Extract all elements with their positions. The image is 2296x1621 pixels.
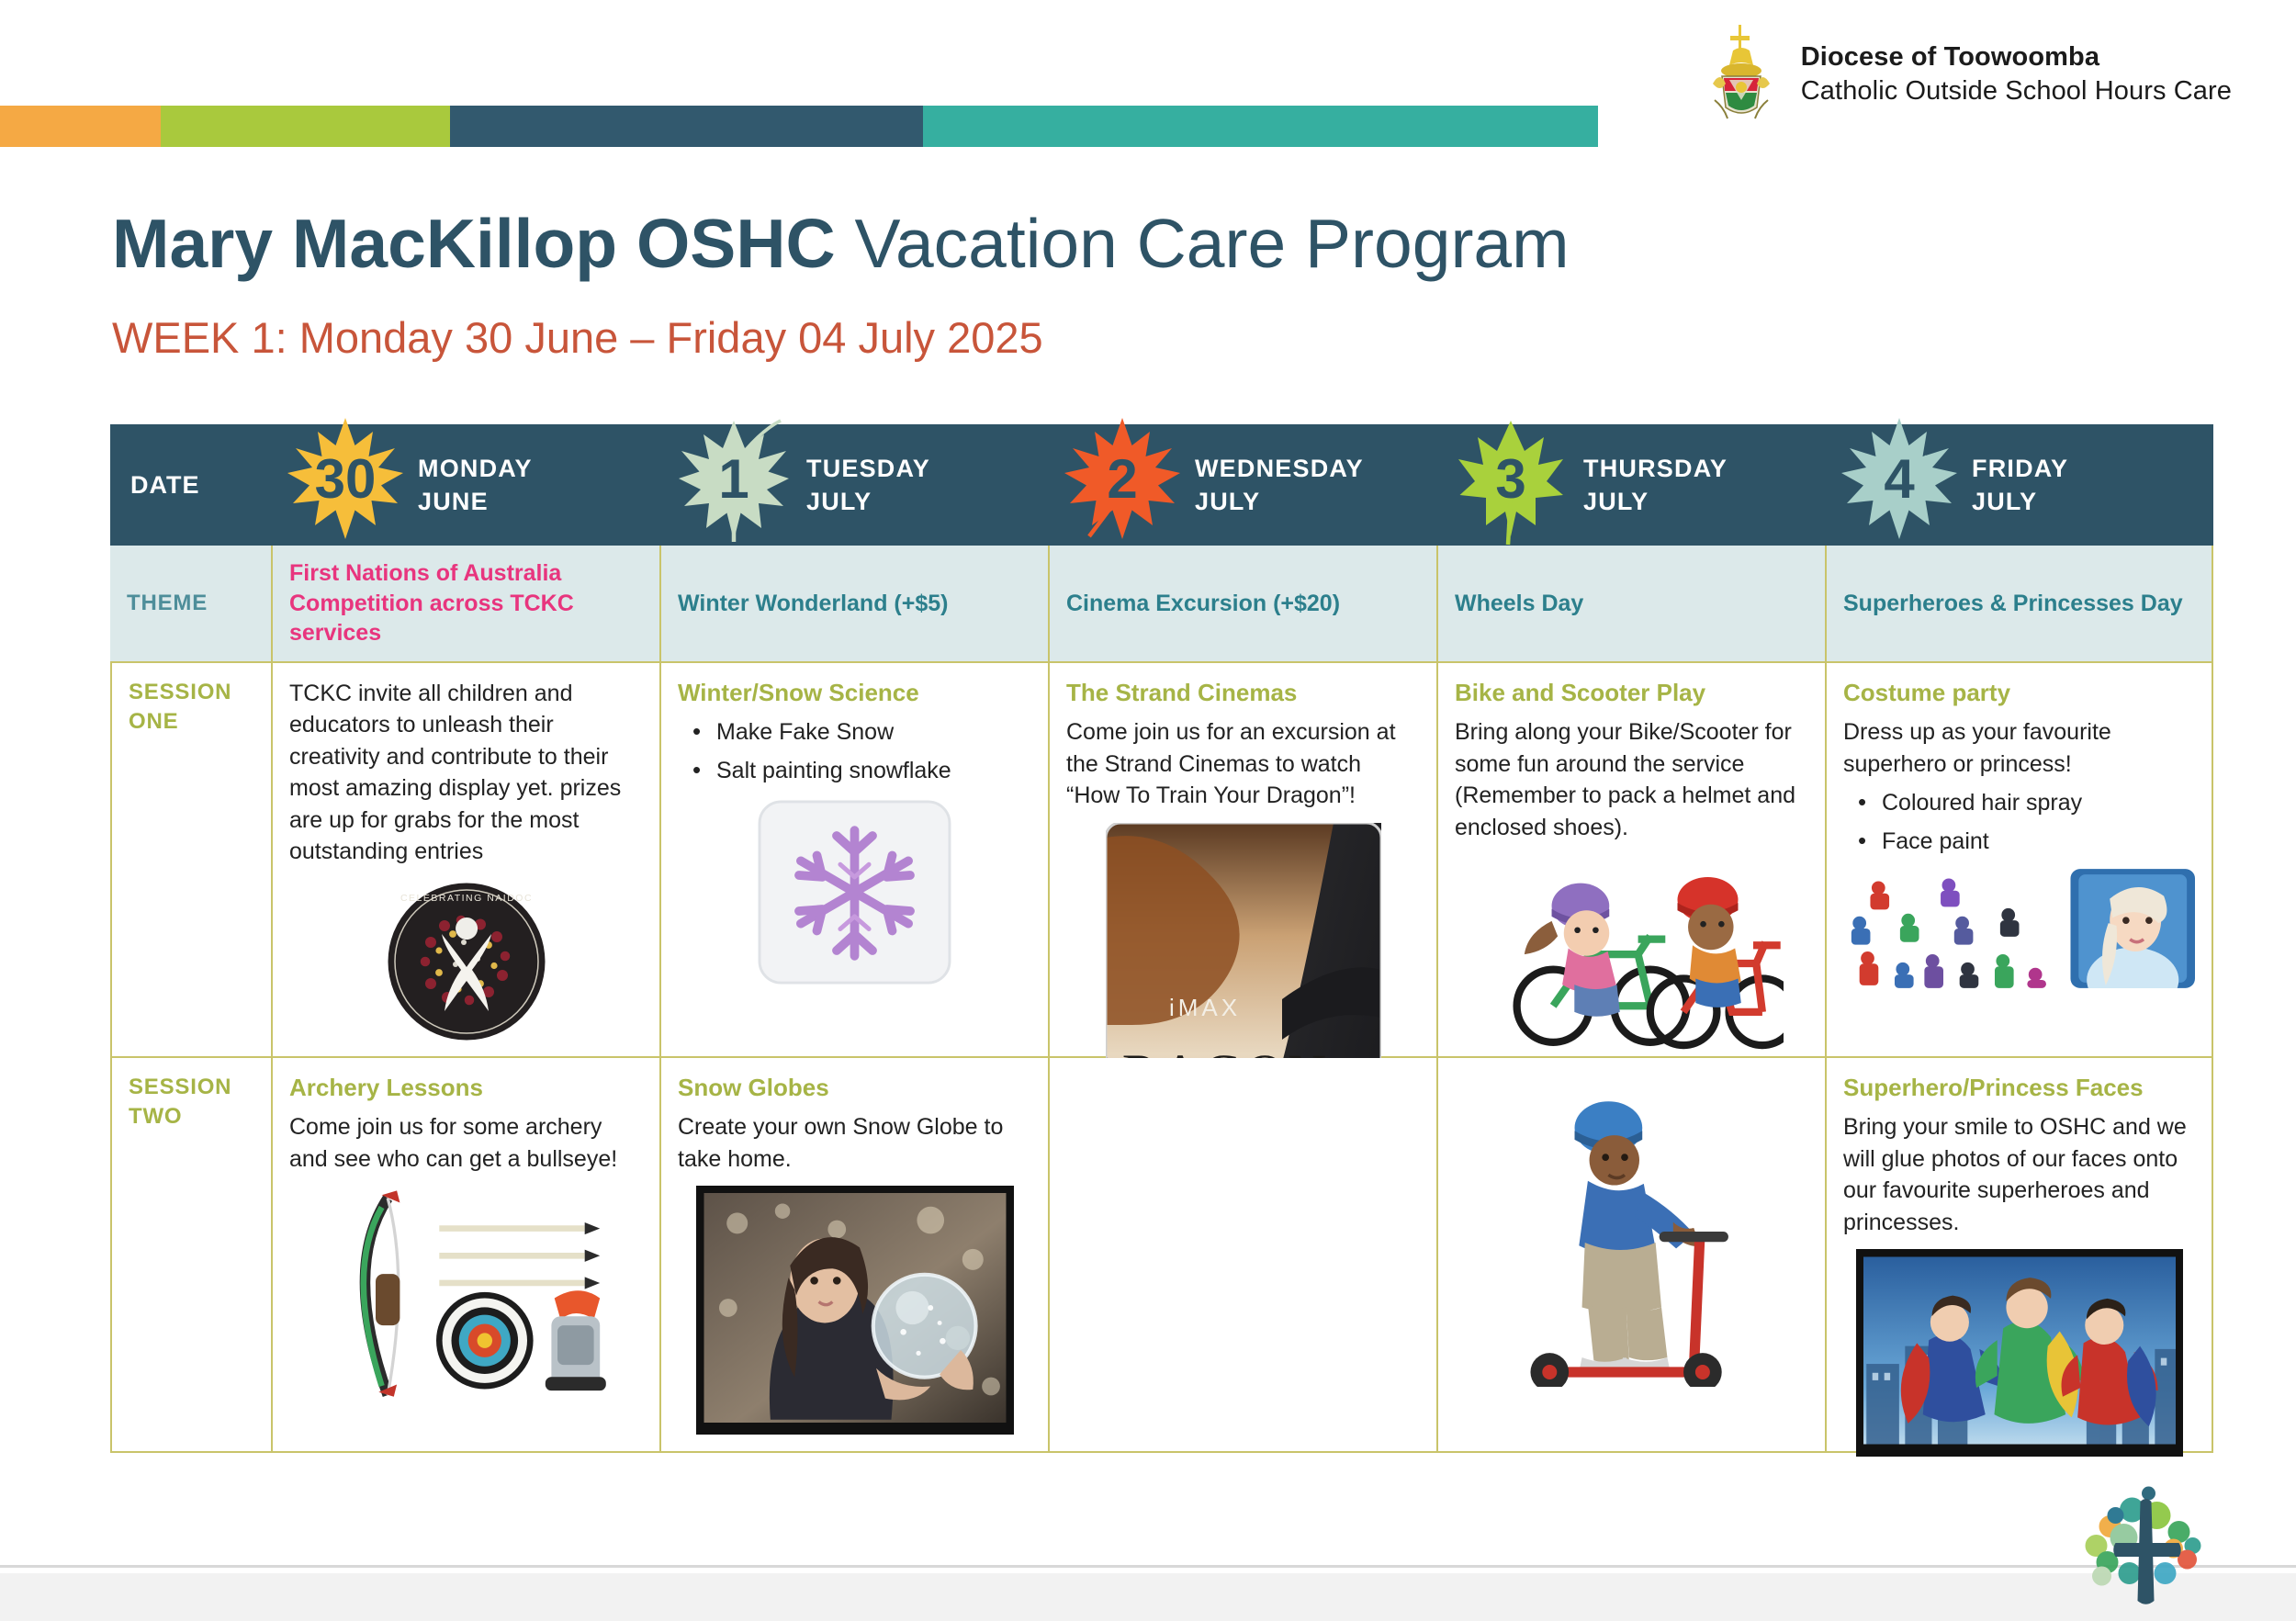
- session-one-cell-wednesday: The Strand Cinemas Come join us for an e…: [1048, 663, 1436, 1058]
- day-number-friday: 4: [1830, 410, 1968, 547]
- footer-divider: [0, 1565, 2296, 1568]
- page-title-regular: Vacation Care Program: [836, 205, 1570, 282]
- activity-bullets-friday-s1: Coloured hair spray Face paint: [1852, 787, 2195, 858]
- day-header-friday: 4 FRIDAY JULY: [1825, 424, 2213, 546]
- naidoc-week-logo: CELEBRATING NAIDOC: [289, 879, 643, 1044]
- theme-cell-wednesday: Cinema Excursion (+$20): [1048, 546, 1436, 663]
- boy-on-scooter-photo: [1455, 1084, 1808, 1387]
- activity-body-friday-s1: Dress up as your favourite superhero or …: [1843, 716, 2195, 780]
- month-thursday: JULY: [1583, 485, 1728, 518]
- day-number-thursday: 3: [1442, 410, 1580, 547]
- day-number-wednesday: 2: [1053, 410, 1191, 547]
- logo-line-service: Catholic Outside School Hours Care: [1801, 74, 2232, 108]
- page-title-bold: Mary MacKillop OSHC: [112, 205, 836, 282]
- maple-leaf-icon: 2: [1053, 410, 1191, 547]
- page-subtitle: WEEK 1: Monday 30 June – Friday 04 July …: [112, 312, 1043, 363]
- kids-on-bikes-illustration: [1455, 854, 1808, 1052]
- girl-holding-snow-globe-photo: [678, 1186, 1031, 1435]
- activity-title-wednesday-s1: The Strand Cinemas: [1066, 678, 1420, 708]
- month-monday: JUNE: [418, 485, 533, 518]
- page-title: Mary MacKillop OSHC Vacation Care Progra…: [112, 204, 1570, 283]
- maple-leaf-icon: 4: [1830, 410, 1968, 547]
- program-table: DATE 30 MONDAY JUNE: [110, 424, 2213, 1453]
- theme-cell-friday: Superheroes & Princesses Day: [1825, 546, 2213, 663]
- day-header-wednesday: 2 WEDNESDAY JULY: [1048, 424, 1436, 546]
- list-item: Make Fake Snow: [687, 716, 1031, 749]
- maple-leaf-icon: 30: [276, 410, 414, 547]
- session-two-cell-monday: Archery Lessons Come join us for some ar…: [271, 1058, 659, 1453]
- svg-text:CELEBRATING NAIDOC: CELEBRATING NAIDOC: [400, 893, 532, 904]
- theme-cell-tuesday: Winter Wonderland (+$5): [659, 546, 1048, 663]
- activity-title-friday-s2: Superhero/Princess Faces: [1843, 1073, 2195, 1103]
- activity-body-monday-s1: TCKC invite all children and educators t…: [289, 678, 643, 868]
- footer-strip: [0, 1573, 2296, 1621]
- weekday-monday: MONDAY: [418, 452, 533, 485]
- theme-text-friday: Superheroes & Princesses Day: [1843, 589, 2183, 619]
- activity-bullets-tuesday-s1: Make Fake Snow Salt painting snowflake: [687, 716, 1031, 787]
- session-one-cell-monday: TCKC invite all children and educators t…: [271, 663, 659, 1058]
- theme-row: THEME First Nations of Australia Competi…: [110, 546, 2213, 663]
- theme-text-thursday: Wheels Day: [1455, 589, 1583, 619]
- activity-body-wednesday-s1: Come join us for an excursion at the Str…: [1066, 716, 1420, 812]
- activity-title-tuesday-s2: Snow Globes: [678, 1073, 1031, 1103]
- month-wednesday: JULY: [1195, 485, 1364, 518]
- vacation-care-program-page: Diocese of Toowoomba Catholic Outside Sc…: [0, 0, 2296, 1621]
- day-number-tuesday: 1: [665, 410, 803, 547]
- session-two-cell-tuesday: Snow Globes Create your own Snow Globe t…: [659, 1058, 1048, 1453]
- theme-text-monday: First Nations of Australia Competition a…: [289, 558, 643, 648]
- weekday-friday: FRIDAY: [1972, 452, 2068, 485]
- maple-leaf-icon: 1: [665, 410, 803, 547]
- list-item: Salt painting snowflake: [687, 755, 1031, 788]
- activity-title-friday-s1: Costume party: [1843, 678, 2195, 708]
- day-number-monday: 30: [276, 410, 414, 547]
- weekday-thursday: THURSDAY: [1583, 452, 1728, 485]
- activity-title-tuesday-s1: Winter/Snow Science: [678, 678, 1031, 708]
- activity-body-tuesday-s2: Create your own Snow Globe to take home.: [678, 1111, 1031, 1175]
- logo-line-diocese: Diocese of Toowoomba: [1801, 40, 2232, 74]
- theme-cell-monday: First Nations of Australia Competition a…: [271, 546, 659, 663]
- svg-text:iMAX: iMAX: [1168, 994, 1240, 1021]
- session-two-cell-friday: Superhero/Princess Faces Bring your smil…: [1825, 1058, 2213, 1453]
- activity-body-thursday-s1: Bring along your Bike/Scooter for some f…: [1455, 716, 1808, 843]
- brand-colour-bar: [0, 106, 1598, 147]
- salt-painted-snowflake-image: [678, 798, 1031, 986]
- session-two-label-cell: SESSION TWO: [110, 1058, 271, 1453]
- activity-title-thursday-s1: Bike and Scooter Play: [1455, 678, 1808, 708]
- theme-cell-thursday: Wheels Day: [1436, 546, 1825, 663]
- superhero-figures-and-elsa-image: [1843, 869, 2195, 988]
- theme-row-label-cell: THEME: [110, 546, 271, 663]
- diocese-logo: Diocese of Toowoomba Catholic Outside Sc…: [1702, 23, 2232, 126]
- theme-row-label: THEME: [127, 591, 208, 616]
- colour-bar-segment-navy: [450, 106, 923, 147]
- session-two-row: SESSION TWO Archery Lessons Come join us…: [110, 1058, 2213, 1453]
- month-friday: JULY: [1972, 485, 2068, 518]
- day-header-thursday: 3 THURSDAY JULY: [1436, 424, 1825, 546]
- activity-body-friday-s2: Bring your smile to OSHC and we will glu…: [1843, 1111, 2195, 1238]
- diocese-crest-icon: [1702, 23, 1781, 126]
- session-two-label: SESSION TWO: [129, 1073, 254, 1132]
- session-one-row: SESSION ONE TCKC invite all children and…: [110, 663, 2213, 1058]
- list-item: Face paint: [1852, 826, 2195, 859]
- month-tuesday: JULY: [806, 485, 930, 518]
- session-one-cell-tuesday: Winter/Snow Science Make Fake Snow Salt …: [659, 663, 1048, 1058]
- catholic-education-cross-logo: [2066, 1474, 2223, 1612]
- activity-body-monday-s2: Come join us for some archery and see wh…: [289, 1111, 643, 1175]
- date-row-label-cell: DATE: [110, 424, 271, 546]
- session-one-cell-thursday: Bike and Scooter Play Bring along your B…: [1436, 663, 1825, 1058]
- weekday-tuesday: TUESDAY: [806, 452, 930, 485]
- activity-title-monday-s2: Archery Lessons: [289, 1073, 643, 1103]
- session-two-cell-thursday: [1436, 1058, 1825, 1453]
- colour-bar-segment-green: [161, 106, 450, 147]
- date-header-row: DATE 30 MONDAY JUNE: [110, 424, 2213, 546]
- colour-bar-segment-orange: [0, 106, 161, 147]
- day-header-monday: 30 MONDAY JUNE: [271, 424, 659, 546]
- maple-leaf-icon: 3: [1442, 410, 1580, 547]
- theme-text-tuesday: Winter Wonderland (+$5): [678, 589, 948, 619]
- list-item: Coloured hair spray: [1852, 787, 2195, 820]
- kids-as-superheroes-photo: [1843, 1249, 2195, 1457]
- theme-text-wednesday: Cinema Excursion (+$20): [1066, 589, 1340, 619]
- session-one-label-cell: SESSION ONE: [110, 663, 271, 1058]
- day-header-tuesday: 1 TUESDAY JULY: [659, 424, 1048, 546]
- session-two-cell-wednesday: [1048, 1058, 1436, 1453]
- colour-bar-segment-teal: [923, 106, 1598, 147]
- archery-set-image: [289, 1186, 643, 1406]
- session-one-cell-friday: Costume party Dress up as your favourite…: [1825, 663, 2213, 1058]
- weekday-wednesday: WEDNESDAY: [1195, 452, 1364, 485]
- session-one-label: SESSION ONE: [129, 678, 254, 737]
- date-row-label: DATE: [110, 471, 200, 500]
